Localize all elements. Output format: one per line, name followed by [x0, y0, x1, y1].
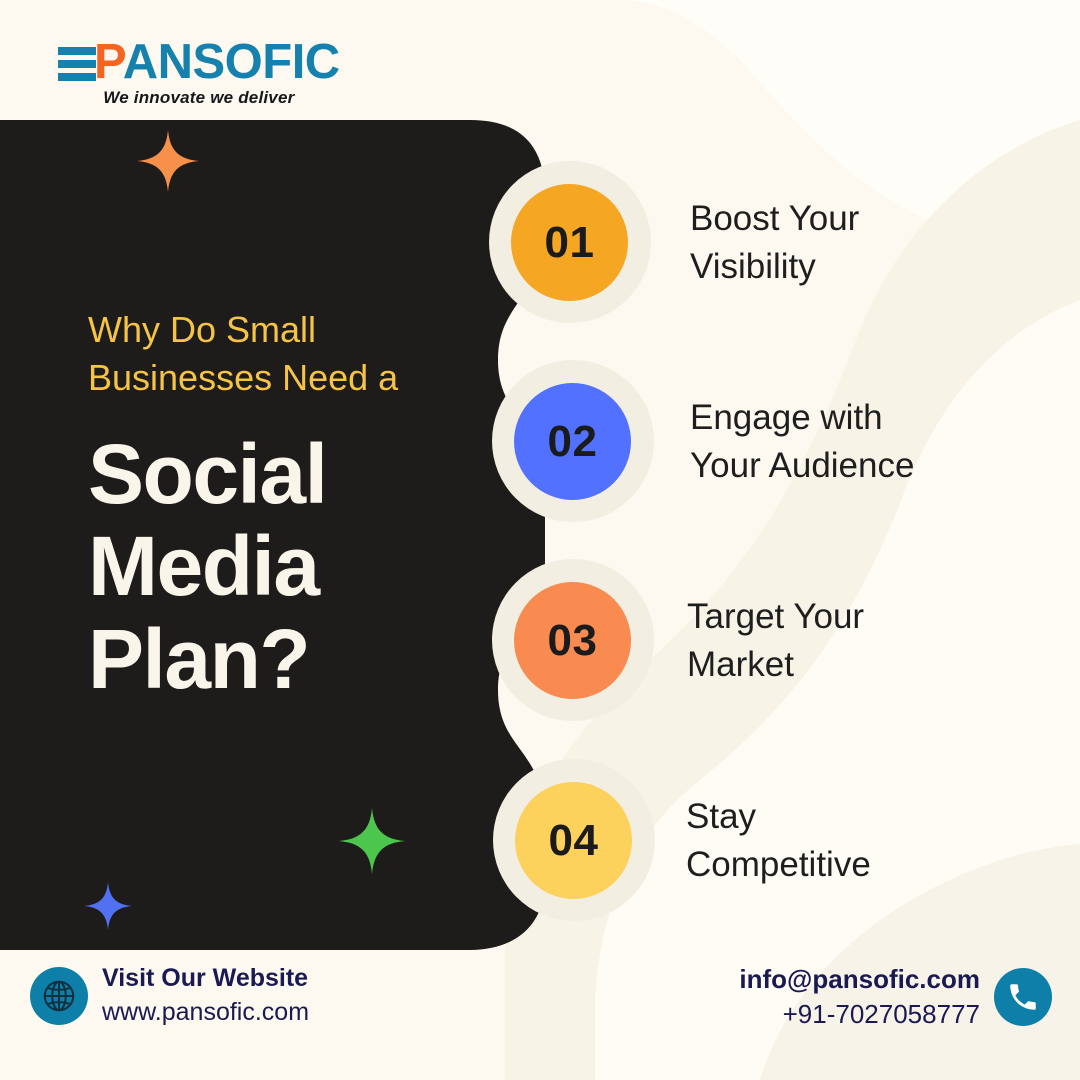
step-number-04: 04: [549, 816, 599, 866]
step-number-02: 02: [548, 417, 598, 467]
eyebrow-text: Why Do Small Businesses Need a: [88, 306, 468, 401]
footer-contact-block[interactable]: info@pansofic.com +91-7027058777: [739, 964, 1052, 1031]
logo-p-letter: P: [94, 38, 126, 87]
step-label-03: Target Your Market: [687, 593, 864, 688]
logo-wordmark: ANSOFIC: [123, 38, 340, 87]
brand-logo[interactable]: P ANSOFIC We innovate we deliver: [58, 38, 340, 108]
phone-icon: [994, 968, 1052, 1026]
step-label-02: Engage with Your Audience: [690, 394, 914, 489]
step-item-01[interactable]: 01 Boost Your Visibility: [511, 184, 859, 301]
sparkle-orange-top-left: [137, 130, 199, 192]
step-circle-03[interactable]: 03: [514, 582, 631, 699]
footer-email[interactable]: info@pansofic.com: [739, 964, 980, 995]
step-number-01: 01: [545, 218, 595, 268]
step-item-04[interactable]: 04 Stay Competitive: [515, 782, 871, 899]
header: P ANSOFIC We innovate we deliver: [0, 0, 1080, 120]
footer-contact-text: info@pansofic.com +91-7027058777: [739, 964, 980, 1031]
page-title: Social Media Plan?: [88, 428, 508, 705]
logo-tagline: We innovate we deliver: [103, 88, 294, 108]
step-circle-04[interactable]: 04: [515, 782, 632, 899]
footer-website-title: Visit Our Website: [102, 964, 309, 994]
footer-website-url[interactable]: www.pansofic.com: [102, 997, 309, 1028]
footer: Visit Our Website www.pansofic.com info@…: [0, 950, 1080, 1080]
step-circle-01[interactable]: 01: [511, 184, 628, 301]
globe-icon: [30, 967, 88, 1025]
three-bars-icon: [58, 45, 96, 81]
sparkle-blue-bottom-left: [84, 882, 132, 930]
step-label-01: Boost Your Visibility: [690, 195, 859, 290]
step-item-02[interactable]: 02 Engage with Your Audience: [514, 383, 914, 500]
footer-phone[interactable]: +91-7027058777: [739, 999, 980, 1031]
step-circle-02[interactable]: 02: [514, 383, 631, 500]
sparkle-green-bottom-center: [339, 808, 405, 874]
footer-website-block[interactable]: Visit Our Website www.pansofic.com: [30, 964, 309, 1027]
logo-wordmark-row: P ANSOFIC: [58, 38, 340, 87]
step-label-04: Stay Competitive: [686, 793, 871, 888]
footer-website-text: Visit Our Website www.pansofic.com: [102, 964, 309, 1027]
step-number-03: 03: [548, 616, 598, 666]
step-item-03[interactable]: 03 Target Your Market: [514, 582, 864, 699]
poster-canvas: P ANSOFIC We innovate we deliver Why Do …: [0, 0, 1080, 1080]
